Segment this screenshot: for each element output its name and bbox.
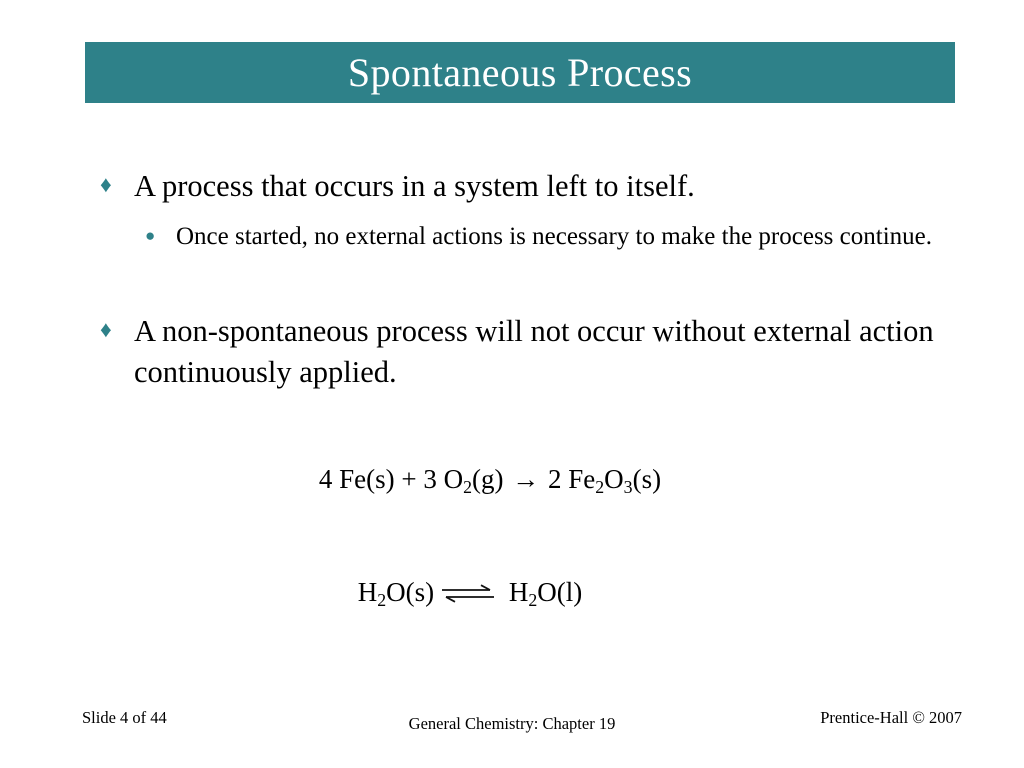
equilibrium-double-harpoon-icon (440, 583, 496, 603)
chemical-equation-iron-oxidation: 4 Fe(s) + 3 O2(g) → 2 Fe2O3(s) (0, 463, 980, 495)
diamond-bullet-icon: ♦ (100, 166, 134, 204)
eq2-left-sub: 2 (377, 590, 386, 610)
eq1-part-d: O (604, 464, 624, 494)
eq1-part-b: (g) (472, 464, 503, 494)
eq2-right-h: H (509, 577, 529, 607)
eq2-right-rest: O(l) (537, 577, 582, 607)
eq1-sub-a: 2 (463, 477, 472, 497)
slide-canvas: Spontaneous Process ♦ A process that occ… (0, 0, 1024, 768)
round-bullet-icon: ● (145, 220, 176, 251)
bullet-item-level1: ♦ A process that occurs in a system left… (100, 166, 960, 207)
bullet-text: Once started, no external actions is nec… (176, 220, 935, 255)
bullet-item-level2: ● Once started, no external actions is n… (145, 220, 935, 255)
bullet-item-level1: ♦ A non-spontaneous process will not occ… (100, 311, 970, 394)
copyright-notice: Prentice-Hall © 2007 (820, 703, 962, 733)
reaction-arrow-icon: → (510, 463, 541, 495)
eq1-part-e: (s) (633, 464, 662, 494)
diamond-bullet-icon: ♦ (100, 311, 134, 349)
eq1-part-c: 2 Fe (548, 464, 595, 494)
bullet-text: A process that occurs in a system left t… (134, 166, 960, 207)
eq1-part-a: 4 Fe(s) + 3 O (319, 464, 463, 494)
eq1-sub-b: 2 (595, 477, 604, 497)
slide-body: ♦ A process that occurs in a system left… (0, 0, 1024, 768)
eq1-sub-c: 3 (624, 477, 633, 497)
bullet-text: A non-spontaneous process will not occur… (134, 311, 970, 394)
eq2-left-rest: O(s) (386, 577, 434, 607)
chemical-equation-water-phase-equilibrium: H2O(s) H2O(l) (0, 576, 940, 608)
slide-footer: Slide 4 of 44 General Chemistry: Chapter… (0, 703, 1024, 733)
eq2-right-sub: 2 (528, 590, 537, 610)
eq2-left-h: H (358, 577, 378, 607)
